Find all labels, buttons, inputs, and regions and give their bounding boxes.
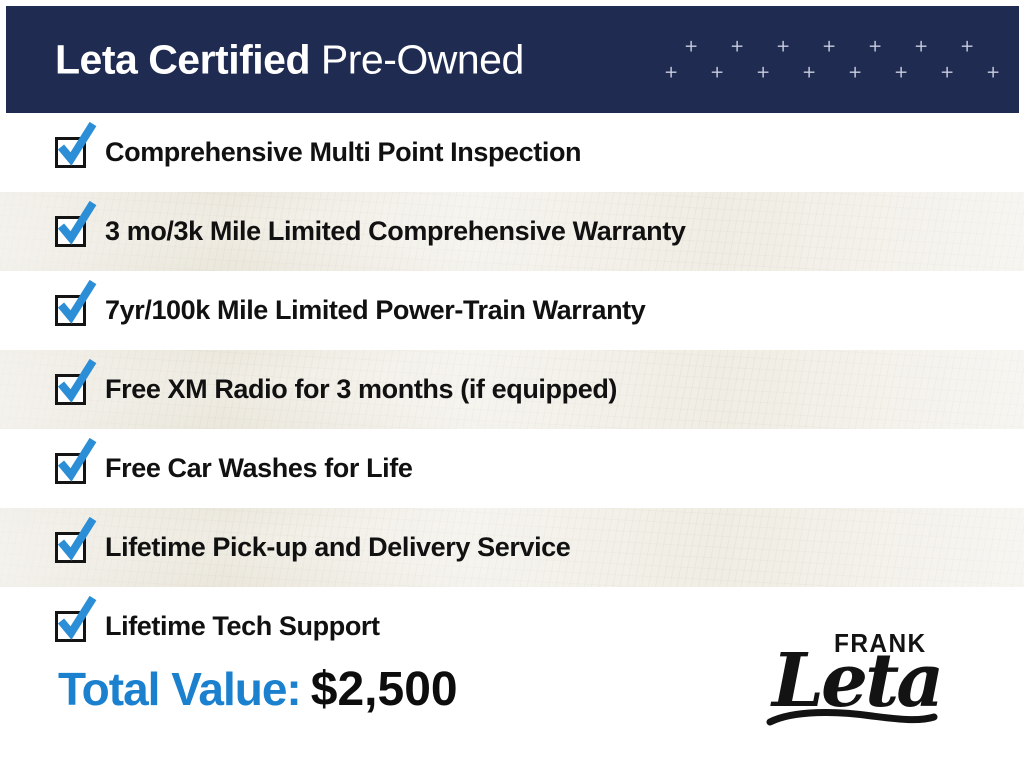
feature-label: Lifetime Tech Support: [105, 613, 380, 640]
total-value-amount: $2,500: [311, 663, 458, 716]
feature-row: Free XM Radio for 3 months (if equipped): [0, 350, 1024, 429]
total-value-label: Total Value:: [58, 663, 301, 715]
feature-row: 7yr/100k Mile Limited Power-Train Warran…: [0, 271, 1024, 350]
feature-label: 3 mo/3k Mile Limited Comprehensive Warra…: [105, 218, 685, 245]
checked-checkbox-icon: [55, 453, 86, 484]
checked-checkbox-icon: [55, 295, 86, 326]
plus-pattern-row-bottom: + + + + + + + +: [664, 64, 999, 81]
header-band: Leta Certified Pre-Owned + + + + + + + +…: [6, 6, 1019, 113]
plus-icon: +: [986, 64, 999, 81]
plus-icon: +: [756, 64, 769, 81]
plus-icon: +: [776, 38, 789, 55]
plus-icon: +: [848, 64, 861, 81]
plus-icon: +: [664, 64, 677, 81]
feature-label: 7yr/100k Mile Limited Power-Train Warran…: [105, 297, 645, 324]
plus-icon: +: [914, 38, 927, 55]
feature-label: Free Car Washes for Life: [105, 455, 413, 482]
plus-icon: +: [730, 38, 743, 55]
plus-icon: +: [868, 38, 881, 55]
page-title-bold: Leta Certified: [55, 36, 310, 82]
checked-checkbox-icon: [55, 611, 86, 642]
checked-checkbox-icon: [55, 216, 86, 247]
plus-icon: +: [822, 38, 835, 55]
feature-row: Free Car Washes for Life: [0, 429, 1024, 508]
plus-icon: +: [684, 38, 697, 55]
feature-row: 3 mo/3k Mile Limited Comprehensive Warra…: [0, 192, 1024, 271]
total-value: Total Value:$2,500: [58, 666, 458, 714]
logo-swash-icon: [768, 708, 938, 730]
checked-checkbox-icon: [55, 374, 86, 405]
frank-leta-logo: FRANK Leta: [772, 622, 950, 732]
plus-icon: +: [940, 64, 953, 81]
plus-pattern-row-top: + + + + + + +: [684, 38, 999, 55]
feature-label: Lifetime Pick-up and Delivery Service: [105, 534, 570, 561]
checked-checkbox-icon: [55, 532, 86, 563]
plus-icon: +: [802, 64, 815, 81]
feature-row: Lifetime Pick-up and Delivery Service: [0, 508, 1024, 587]
page-title: Leta Certified Pre-Owned: [55, 39, 524, 80]
plus-icon: +: [710, 64, 723, 81]
plus-icon: +: [894, 64, 907, 81]
plus-pattern-decor: + + + + + + + + + + + + + + +: [684, 38, 999, 81]
plus-icon: +: [960, 38, 973, 55]
checked-checkbox-icon: [55, 137, 86, 168]
certified-pre-owned-sheet: Leta Certified Pre-Owned + + + + + + + +…: [0, 0, 1024, 768]
feature-list: Comprehensive Multi Point Inspection 3 m…: [0, 113, 1024, 666]
feature-label: Free XM Radio for 3 months (if equipped): [105, 376, 617, 403]
logo-leta-text: Leta: [772, 644, 941, 718]
feature-row: Comprehensive Multi Point Inspection: [0, 113, 1024, 192]
feature-label: Comprehensive Multi Point Inspection: [105, 139, 581, 166]
page-title-light: Pre-Owned: [321, 36, 524, 82]
